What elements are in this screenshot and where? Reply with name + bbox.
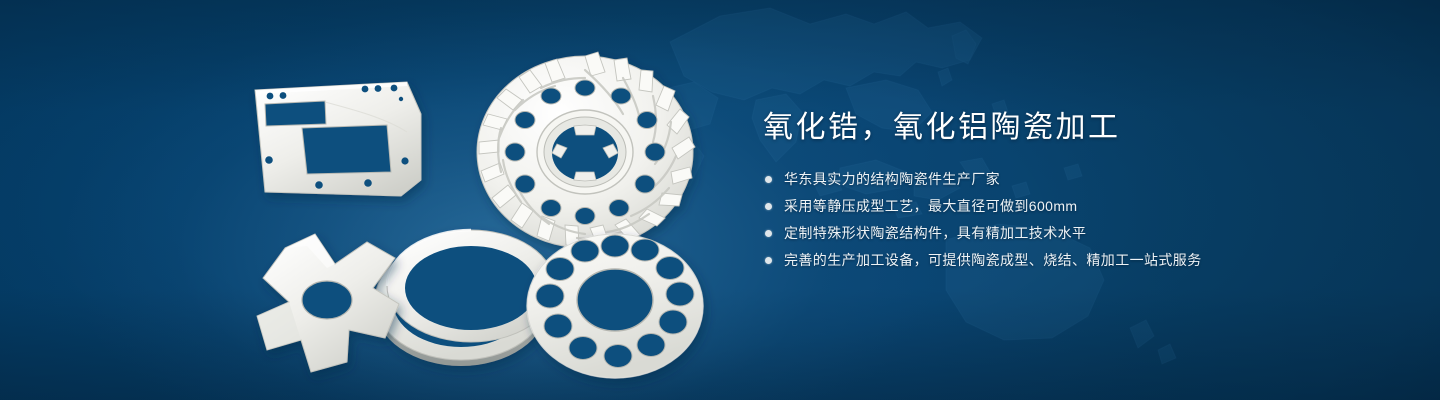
banner-copy: 氧化锆，氧化铝陶瓷加工 华东具实力的结构陶瓷件生产厂家 采用等静压成型工艺，最大…	[763, 108, 1363, 269]
list-item: 定制特殊形状陶瓷结构件，具有精加工技术水平	[763, 224, 1363, 242]
list-item-label: 采用等静压成型工艺，最大直径可做到600mm	[784, 197, 1077, 215]
list-item: 采用等静压成型工艺，最大直径可做到600mm	[763, 197, 1363, 215]
bullet-dot-icon	[765, 203, 772, 210]
ceramic-perforated-disc	[527, 234, 703, 378]
feature-list: 华东具实力的结构陶瓷件生产厂家 采用等静压成型工艺，最大直径可做到600mm 定…	[763, 170, 1363, 269]
list-item: 完善的生产加工设备，可提供陶瓷成型、烧结、精加工一站式服务	[763, 251, 1363, 269]
bullet-dot-icon	[765, 230, 772, 237]
bullet-dot-icon	[765, 176, 772, 183]
list-item-label: 定制特殊形状陶瓷结构件，具有精加工技术水平	[784, 224, 1086, 242]
hero-banner: 氧化锆，氧化铝陶瓷加工 华东具实力的结构陶瓷件生产厂家 采用等静压成型工艺，最大…	[0, 0, 1440, 400]
list-item-label: 华东具实力的结构陶瓷件生产厂家	[784, 170, 1000, 188]
bullet-dot-icon	[765, 257, 772, 264]
product-photo-group	[225, 32, 725, 382]
list-item: 华东具实力的结构陶瓷件生产厂家	[763, 170, 1363, 188]
page-title: 氧化锆，氧化铝陶瓷加工	[763, 108, 1363, 148]
ceramic-cross-plate	[257, 234, 399, 372]
list-item-label: 完善的生产加工设备，可提供陶瓷成型、烧结、精加工一站式服务	[784, 251, 1202, 269]
ceramic-plate	[255, 82, 421, 196]
ceramic-impeller	[477, 52, 695, 248]
